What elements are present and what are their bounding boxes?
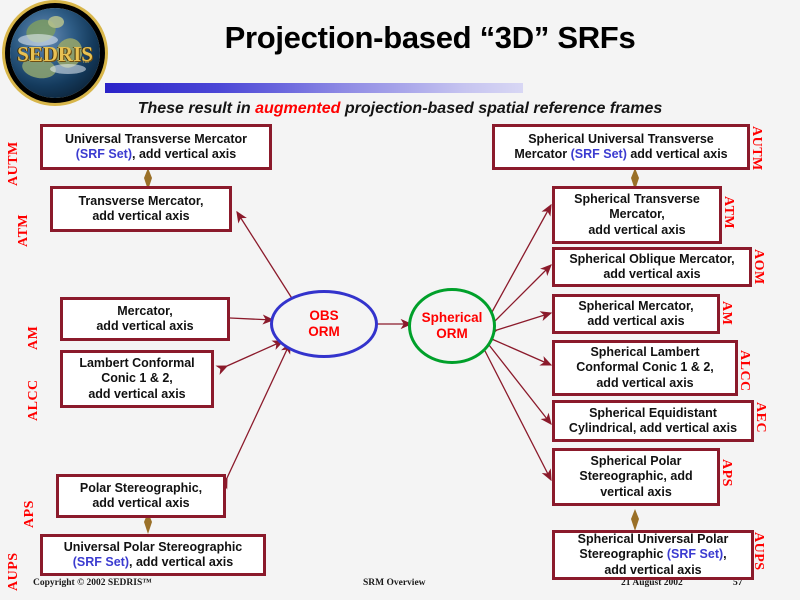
- node-line-2: add vertical axis: [92, 496, 189, 510]
- node-spherical-augmented-transverse-mercator[interactable]: Spherical Transverse Mercator, add verti…: [552, 186, 722, 244]
- node-line-2a: Mercator: [514, 147, 570, 161]
- node-line-1: Transverse Mercator,: [78, 194, 203, 208]
- tag-atm-left: ATM: [16, 214, 32, 247]
- node-line-1: Mercator,: [117, 304, 173, 318]
- node-spherical-augmented-oblique-mercator[interactable]: Spherical Oblique Mercator, add vertical…: [552, 247, 752, 287]
- tag-aups-left: AUPS: [6, 552, 22, 591]
- node-spherical-augmented-lambert-conformal-conic[interactable]: Spherical Lambert Conformal Conic 1 & 2,…: [552, 340, 738, 396]
- node-line-1: Polar Stereographic,: [80, 481, 202, 495]
- node-line-2: add vertical axis: [96, 319, 193, 333]
- node-line-1: Spherical Equidistant: [589, 406, 717, 420]
- tag-aups-right: AUPS: [750, 532, 766, 571]
- node-line-2: add vertical axis: [92, 209, 189, 223]
- node-line-3: add vertical axis: [88, 387, 185, 401]
- node-line-3: add vertical axis: [596, 376, 693, 390]
- tag-aom-right: AOM: [750, 249, 766, 285]
- node-line-2: , add vertical axis: [129, 555, 233, 569]
- node-obs-orm[interactable]: OBS ORM: [270, 290, 378, 358]
- srf-set-label: (SRF Set): [667, 547, 723, 561]
- node-line-2a: Stereographic: [579, 547, 667, 561]
- node-line-1: Spherical Lambert: [590, 345, 699, 359]
- node-line-2: Mercator,: [609, 207, 665, 221]
- srf-set-label: (SRF Set): [76, 147, 132, 161]
- node-line-1: Universal Transverse Mercator: [65, 132, 247, 146]
- node-spherical-augmented-mercator[interactable]: Spherical Mercator, add vertical axis: [552, 294, 720, 334]
- node-line-2: Stereographic, add: [579, 469, 692, 483]
- node-spherical-orm[interactable]: Spherical ORM: [408, 288, 496, 364]
- node-spherical-augmented-universal-transverse-mercator[interactable]: Spherical Universal Transverse Mercator …: [492, 124, 750, 170]
- tag-alcc-right: ALCC: [736, 350, 752, 392]
- node-spherical-augmented-equidistant-cylindrical[interactable]: Spherical Equidistant Cylindrical, add v…: [552, 400, 754, 442]
- node-line-1: Spherical Oblique Mercator,: [569, 252, 734, 266]
- tag-autm-left: AUTM: [6, 141, 22, 186]
- tag-atm-right: ATM: [720, 196, 736, 229]
- node-augmented-lambert-conformal-conic[interactable]: Lambert Conformal Conic 1 & 2, add verti…: [60, 350, 214, 408]
- node-line-3: add vertical axis: [588, 223, 685, 237]
- node-line-2: add vertical axis: [587, 314, 684, 328]
- tag-alcc-left: ALCC: [26, 379, 42, 421]
- node-line-1: Lambert Conformal: [79, 356, 194, 370]
- node-line-1: Spherical Polar: [590, 454, 681, 468]
- obs-orm-line-1: OBS: [309, 308, 338, 323]
- node-line-2: Cylindrical, add vertical axis: [569, 421, 737, 435]
- node-line-1: Spherical Transverse: [574, 192, 700, 206]
- node-line-2b: add vertical axis: [627, 147, 728, 161]
- node-line-3: add vertical axis: [604, 563, 701, 577]
- node-augmented-polar-stereographic[interactable]: Polar Stereographic, add vertical axis: [56, 474, 226, 518]
- spherical-orm-line-1: Spherical: [422, 310, 483, 325]
- node-augmented-universal-polar-stereographic[interactable]: Universal Polar Stereographic (SRF Set),…: [40, 534, 266, 576]
- node-line-1: Spherical Mercator,: [578, 299, 693, 313]
- node-augmented-mercator[interactable]: Mercator, add vertical axis: [60, 297, 230, 341]
- node-line-2: Conic 1 & 2,: [101, 371, 173, 385]
- srf-set-label: (SRF Set): [571, 147, 627, 161]
- node-line-3: vertical axis: [600, 485, 672, 499]
- node-line-2b: ,: [723, 547, 726, 561]
- spherical-orm-line-2: ORM: [436, 326, 468, 341]
- node-line-2: add vertical axis: [603, 267, 700, 281]
- node-line-2: Conformal Conic 1 & 2,: [576, 360, 714, 374]
- tag-am-left: AM: [26, 326, 42, 350]
- tag-autm-right: AUTM: [748, 126, 764, 171]
- srf-set-label: (SRF Set): [73, 555, 129, 569]
- slide-canvas: SEDRIS ™ Projection-based “3D” SRFs Thes…: [0, 0, 800, 600]
- tag-aps-right: APS: [718, 459, 734, 487]
- tag-aec-right: AEC: [752, 402, 768, 433]
- obs-orm-line-2: ORM: [308, 324, 340, 339]
- node-spherical-augmented-polar-stereographic[interactable]: Spherical Polar Stereographic, add verti…: [552, 448, 720, 506]
- tag-am-right: AM: [718, 301, 734, 325]
- node-augmented-transverse-mercator[interactable]: Transverse Mercator, add vertical axis: [50, 186, 232, 232]
- node-line-1: Universal Polar Stereographic: [64, 540, 243, 554]
- node-augmented-universal-transverse-mercator[interactable]: Universal Transverse Mercator (SRF Set),…: [40, 124, 272, 170]
- node-line-1: Spherical Universal Transverse: [528, 132, 714, 146]
- node-line-2: , add vertical axis: [132, 147, 236, 161]
- tag-aps-left: APS: [22, 500, 38, 528]
- node-spherical-augmented-universal-polar-stereographic[interactable]: Spherical Universal Polar Stereographic …: [552, 530, 754, 580]
- node-line-1: Spherical Universal Polar: [578, 532, 729, 546]
